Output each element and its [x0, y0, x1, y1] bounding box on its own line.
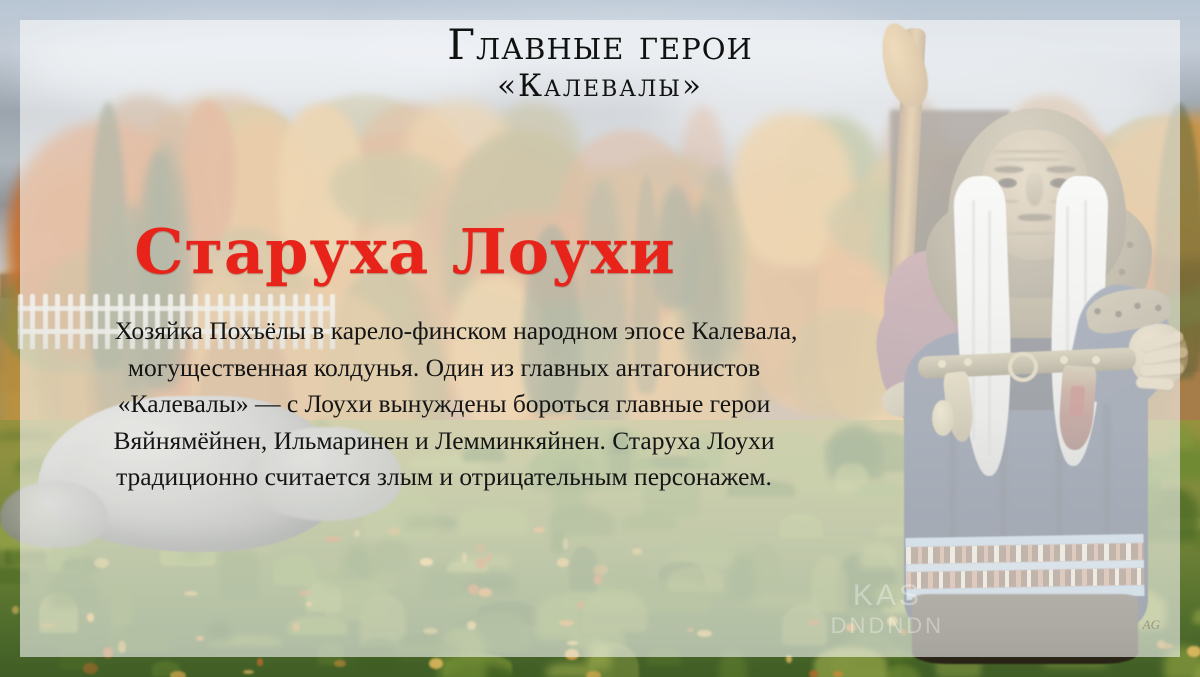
grass-tuft [536, 594, 582, 639]
hair-strand [972, 200, 975, 440]
fallen-leaf [563, 538, 568, 550]
header-line-2: «Калевалы» [0, 68, 1200, 104]
header-line-1: Главные герои [0, 22, 1200, 68]
fallen-leaf [12, 606, 19, 614]
robe-fold [1104, 396, 1110, 546]
fence-picket [55, 294, 60, 348]
grass-tuft [779, 514, 822, 538]
fallen-leaf [533, 527, 545, 533]
grass-tuft [207, 620, 231, 642]
fallen-leaf [170, 671, 186, 677]
grass-tuft [719, 651, 746, 677]
nose [1026, 172, 1043, 206]
fallen-leaf [118, 641, 125, 653]
fallen-leaf [557, 558, 568, 567]
grass-tuft [457, 506, 530, 537]
fence-picket [43, 294, 48, 348]
fallen-leaf [41, 623, 55, 628]
body-paragraph: Хозяйка Похъёлы в карело-финском народно… [74, 313, 814, 496]
fallen-leaf [809, 670, 818, 677]
fallen-leaf [577, 601, 584, 610]
fence-picket [18, 294, 23, 348]
grass-tuft [586, 640, 611, 669]
fallen-leaf [786, 655, 792, 663]
belt-pendant-small [932, 400, 954, 436]
grass-tuft [749, 594, 820, 606]
fallen-leaf [478, 588, 493, 597]
fallen-leaf [467, 621, 476, 629]
eyebrow-left [994, 166, 1024, 173]
fallen-leaf [565, 649, 579, 660]
poster: Главные герои «Калевалы» Старуха Лоухи Х… [0, 0, 1200, 677]
fence-picket [68, 294, 73, 348]
fallen-leaf [103, 647, 113, 658]
belt-stud [1060, 356, 1068, 364]
fallen-leaf [354, 530, 361, 538]
grass-tuft [372, 538, 409, 570]
grass-tuft [647, 649, 681, 667]
fallen-leaf [325, 536, 341, 542]
grass-tuft [80, 587, 99, 600]
forehead-wrinkle [996, 158, 1064, 161]
fallen-leaf [293, 622, 299, 632]
grass-tuft [393, 502, 439, 543]
fallen-leaf [423, 628, 438, 634]
fallen-leaf [468, 584, 479, 595]
fallen-leaf [87, 613, 94, 622]
knife-rune-mark [1069, 386, 1085, 417]
fallen-leaf [697, 630, 712, 637]
grass-tuft [668, 567, 724, 592]
fallen-leaf [243, 670, 255, 674]
grass-tuft [687, 536, 730, 559]
grass-tuft [811, 556, 847, 612]
fallen-leaf [257, 658, 262, 666]
mouth [1018, 214, 1052, 221]
fallen-leaf [476, 543, 486, 553]
chin-wrinkle [1006, 232, 1056, 235]
fallen-leaf [184, 591, 199, 597]
fallen-leaf [687, 628, 695, 633]
grass-tuft [273, 554, 316, 584]
fallen-leaf [846, 623, 856, 632]
hair-strand [988, 210, 991, 455]
grass-tuft [392, 640, 456, 655]
fallen-leaf [420, 558, 433, 566]
grass-tuft [0, 430, 54, 442]
fallen-leaf [586, 671, 601, 677]
grass-tuft [324, 569, 360, 591]
fallen-leaf [306, 602, 312, 606]
grass-tuft [728, 553, 757, 600]
grass-tuft [582, 591, 646, 632]
belt-stud [938, 360, 946, 368]
fallen-leaf [196, 636, 204, 641]
eyebrow-right [1046, 166, 1076, 173]
fallen-leaf [334, 660, 346, 667]
page-title: Старуха Лоухи [0, 218, 810, 286]
skirt-bottom [912, 594, 1138, 664]
fallen-leaf [632, 548, 643, 555]
header: Главные герои «Калевалы» [0, 22, 1200, 104]
belt-stud [1092, 356, 1100, 364]
forehead-wrinkle [992, 150, 1068, 153]
fallen-leaf [94, 558, 109, 568]
fallen-leaf [83, 663, 97, 674]
fallen-leaf [567, 641, 577, 645]
fallen-leaf [833, 671, 843, 677]
fallen-leaf [593, 565, 607, 575]
grass-tuft [0, 568, 30, 584]
belt-stud [964, 358, 972, 366]
fallen-leaf [486, 554, 493, 562]
belt-ring [1008, 352, 1038, 382]
fence-picket [30, 294, 35, 348]
